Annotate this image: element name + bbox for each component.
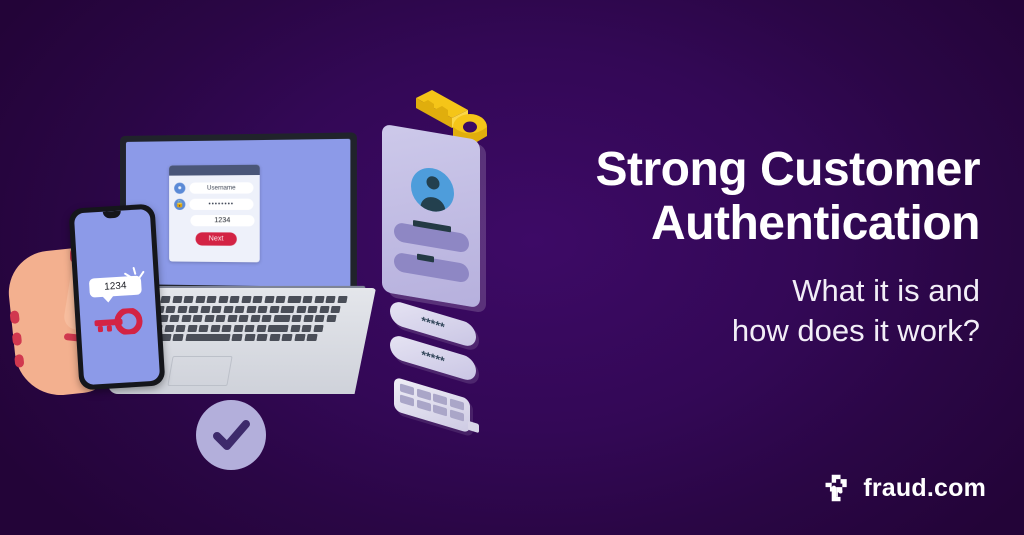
phone-screen: 1234	[74, 209, 160, 385]
banner-canvas: ● Username 🔒 •••••••• 1234 Next	[0, 0, 1024, 535]
otp-code-input[interactable]: 1234	[190, 215, 254, 226]
id-card	[382, 124, 480, 309]
fraud-logo-mark	[822, 473, 852, 503]
subhead-line-1: What it is and	[510, 271, 980, 311]
user-avatar-icon	[411, 165, 454, 215]
phone-in-hand-illustration: 1234	[12, 206, 187, 406]
checkmark-icon	[209, 413, 253, 457]
otp-bubble: 1234	[89, 276, 142, 298]
verified-check-badge	[196, 400, 266, 470]
username-row: ● Username	[174, 182, 253, 194]
dialog-titlebar	[169, 165, 260, 176]
password-mask: *****	[421, 314, 444, 333]
headline-block: Strong Customer Authentication What it i…	[510, 143, 980, 351]
phone-notch	[103, 211, 121, 219]
headline-line-1: Strong Customer	[510, 143, 980, 197]
key-icon	[92, 308, 143, 337]
next-button[interactable]: Next	[196, 232, 237, 245]
pin-keypad[interactable]	[394, 377, 470, 434]
password-input[interactable]: ••••••••	[189, 199, 253, 210]
username-input[interactable]: Username	[189, 182, 253, 194]
person-icon: ●	[174, 183, 185, 194]
password-mask: *****	[421, 348, 444, 367]
id-credential-stack: ***** *****	[374, 84, 514, 434]
headline-line-2: Authentication	[510, 197, 980, 251]
logo-wordmark: fraud.com	[863, 474, 986, 503]
mobile-phone: 1234	[69, 204, 166, 391]
brand-logo[interactable]: fraud.com	[822, 473, 986, 503]
subhead-line-2: how does it work?	[510, 311, 980, 351]
